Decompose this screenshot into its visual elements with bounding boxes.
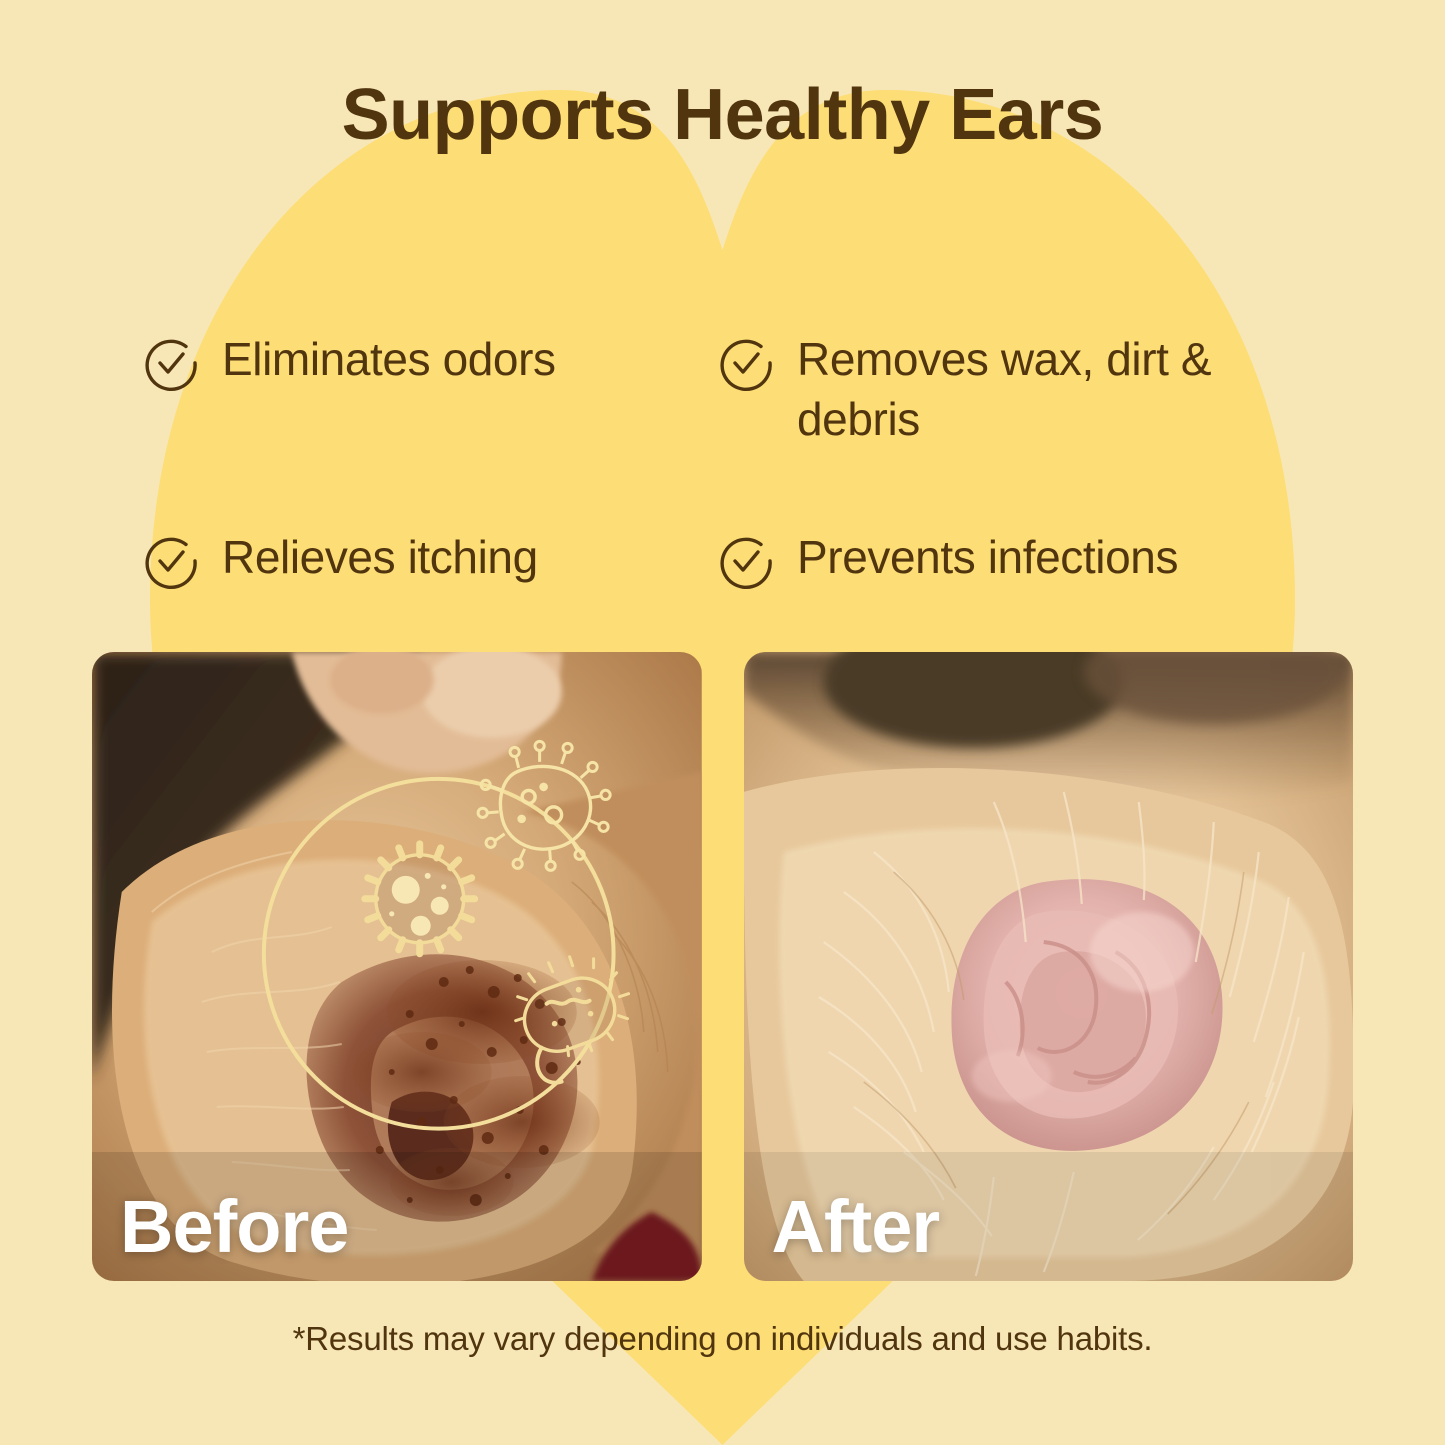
benefit-item-removes-wax-dirt-debris: Removes wax, dirt & debris: [717, 330, 1307, 450]
before-photo-card: Before: [92, 652, 702, 1281]
benefit-label: Eliminates odors: [222, 330, 556, 390]
benefit-label: Prevents infections: [797, 528, 1178, 588]
before-caption: Before: [120, 1184, 348, 1269]
before-after-comparison: Before: [92, 652, 1353, 1281]
benefit-item-relieves-itching: Relieves itching: [142, 528, 717, 590]
after-photo-card: After: [744, 652, 1354, 1281]
page-title: Supports Healthy Ears: [0, 78, 1445, 154]
results-disclaimer: *Results may vary depending on individua…: [0, 1320, 1445, 1358]
check-circle-icon: [142, 532, 200, 590]
check-circle-icon: [717, 532, 775, 590]
after-caption: After: [772, 1184, 940, 1269]
benefit-label: Relieves itching: [222, 528, 538, 588]
benefits-list: Eliminates odors Removes wax, dirt & deb…: [142, 330, 1307, 590]
check-circle-icon: [717, 334, 775, 392]
benefit-label: Removes wax, dirt & debris: [797, 330, 1307, 450]
benefit-item-eliminates-odors: Eliminates odors: [142, 330, 717, 450]
check-circle-icon: [142, 334, 200, 392]
benefit-item-prevents-infections: Prevents infections: [717, 528, 1307, 590]
